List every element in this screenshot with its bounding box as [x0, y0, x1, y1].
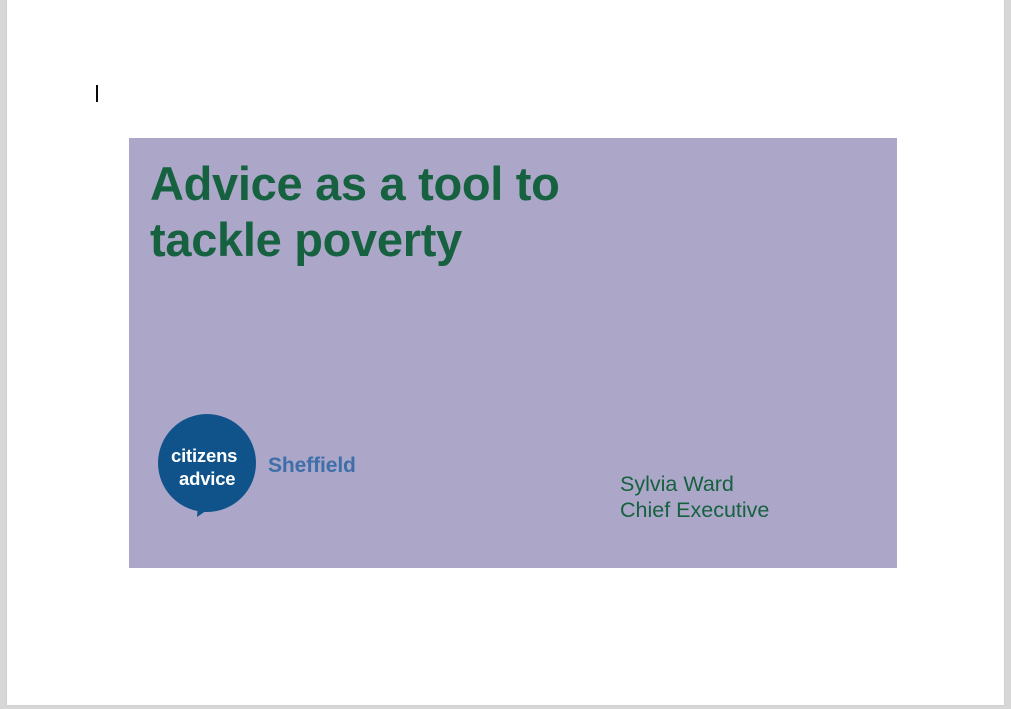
logo-locality-label: Sheffield	[268, 454, 356, 478]
slide-title: Advice as a tool to tackle poverty	[150, 156, 710, 268]
logo-wordmark-line-2: advice	[169, 467, 251, 490]
screenshot-root: Advice as a tool to tackle poverty citiz…	[0, 0, 1011, 709]
slide-title-line-1: Advice as a tool to	[150, 156, 710, 212]
document-page[interactable]: Advice as a tool to tackle poverty citiz…	[6, 0, 1005, 706]
logo-wordmark: citizens advice	[169, 444, 251, 490]
presentation-slide[interactable]: Advice as a tool to tackle poverty citiz…	[129, 138, 897, 568]
speaker-name: Sylvia Ward	[620, 471, 769, 497]
speaker-credit: Sylvia Ward Chief Executive	[620, 471, 769, 523]
text-caret	[96, 85, 98, 102]
citizens-advice-logo: citizens advice Sheffield	[157, 413, 397, 533]
slide-title-line-2: tackle poverty	[150, 212, 710, 268]
logo-wordmark-line-1: citizens	[169, 444, 251, 467]
speaker-role: Chief Executive	[620, 497, 769, 523]
